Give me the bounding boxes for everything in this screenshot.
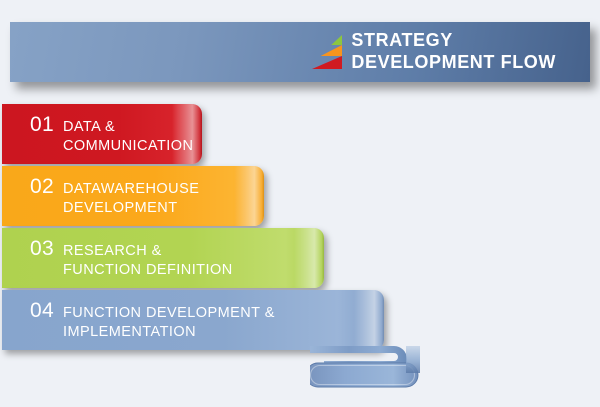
step-front-panel-04[interactable]: 04 FUNCTION DEVELOPMENT & IMPLEMENTATION xyxy=(2,290,384,350)
step-number-02: 02 xyxy=(30,175,54,200)
step-number-01: 01 xyxy=(30,113,54,138)
ribbon-fold-shade-03 xyxy=(294,228,324,288)
step-title-04: FUNCTION DEVELOPMENT & IMPLEMENTATION xyxy=(63,304,275,342)
step-front-panel-02[interactable]: 02 DATAWAREHOUSE DEVELOPMENT xyxy=(2,166,264,226)
step-label-01: 01 DATA & COMMUNICATION xyxy=(30,113,193,156)
step-front-panel-01[interactable]: 01 DATA & COMMUNICATION xyxy=(2,104,202,164)
ribbon-curl-tail xyxy=(310,344,420,400)
step-title-02: DATAWAREHOUSE DEVELOPMENT xyxy=(63,180,199,218)
step-label-04: 04 FUNCTION DEVELOPMENT & IMPLEMENTATION xyxy=(30,299,275,342)
triangle-arrow-logo-icon xyxy=(312,34,342,70)
diagram-canvas: STRATEGY DEVELOPMENT FLOW 01 DATA & COMM… xyxy=(0,0,600,407)
step-number-03: 03 xyxy=(30,237,54,262)
step-label-02: 02 DATAWAREHOUSE DEVELOPMENT xyxy=(30,175,199,218)
step-label-03: 03 RESEARCH & FUNCTION DEFINITION xyxy=(30,237,233,280)
ribbon-fold-shade-04 xyxy=(354,290,384,350)
header-title: STRATEGY DEVELOPMENT FLOW xyxy=(351,30,556,74)
step-title-03: RESEARCH & FUNCTION DEFINITION xyxy=(63,242,233,280)
ribbon-fold-shade-02 xyxy=(234,166,264,226)
step-front-panel-03[interactable]: 03 RESEARCH & FUNCTION DEFINITION xyxy=(2,228,324,288)
brand: STRATEGY DEVELOPMENT FLOW xyxy=(312,30,556,74)
step-title-01: DATA & COMMUNICATION xyxy=(63,118,193,156)
header-bar: STRATEGY DEVELOPMENT FLOW xyxy=(10,22,590,82)
step-number-04: 04 xyxy=(30,299,54,324)
